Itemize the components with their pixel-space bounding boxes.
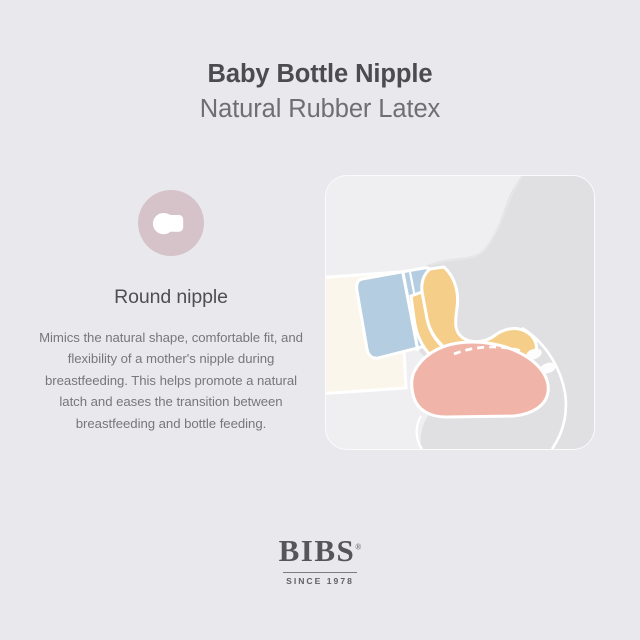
brand-tagline: SINCE 1978 [0,576,640,586]
logo-divider [283,572,357,573]
illustration-panel [325,175,595,450]
page-subtitle: Natural Rubber Latex [0,93,640,126]
round-nipple-icon [138,190,204,256]
registered-trademark-icon: ® [355,543,361,552]
feature-title: Round nipple [26,286,316,309]
baby-feeding-illustration [326,176,594,449]
round-nipple-badge [138,190,204,256]
page-title: Baby Bottle Nipple [0,58,640,91]
page-header: Baby Bottle Nipple Natural Rubber Latex [0,58,640,125]
brand-name: BIBS® [279,533,362,569]
feature-block: Round nipple Mimics the natural shape, c… [26,190,316,434]
feature-description: Mimics the natural shape, comfortable fi… [26,327,316,434]
brand-name-text: BIBS [279,533,356,568]
brand-logo: BIBS® SINCE 1978 [0,533,640,586]
